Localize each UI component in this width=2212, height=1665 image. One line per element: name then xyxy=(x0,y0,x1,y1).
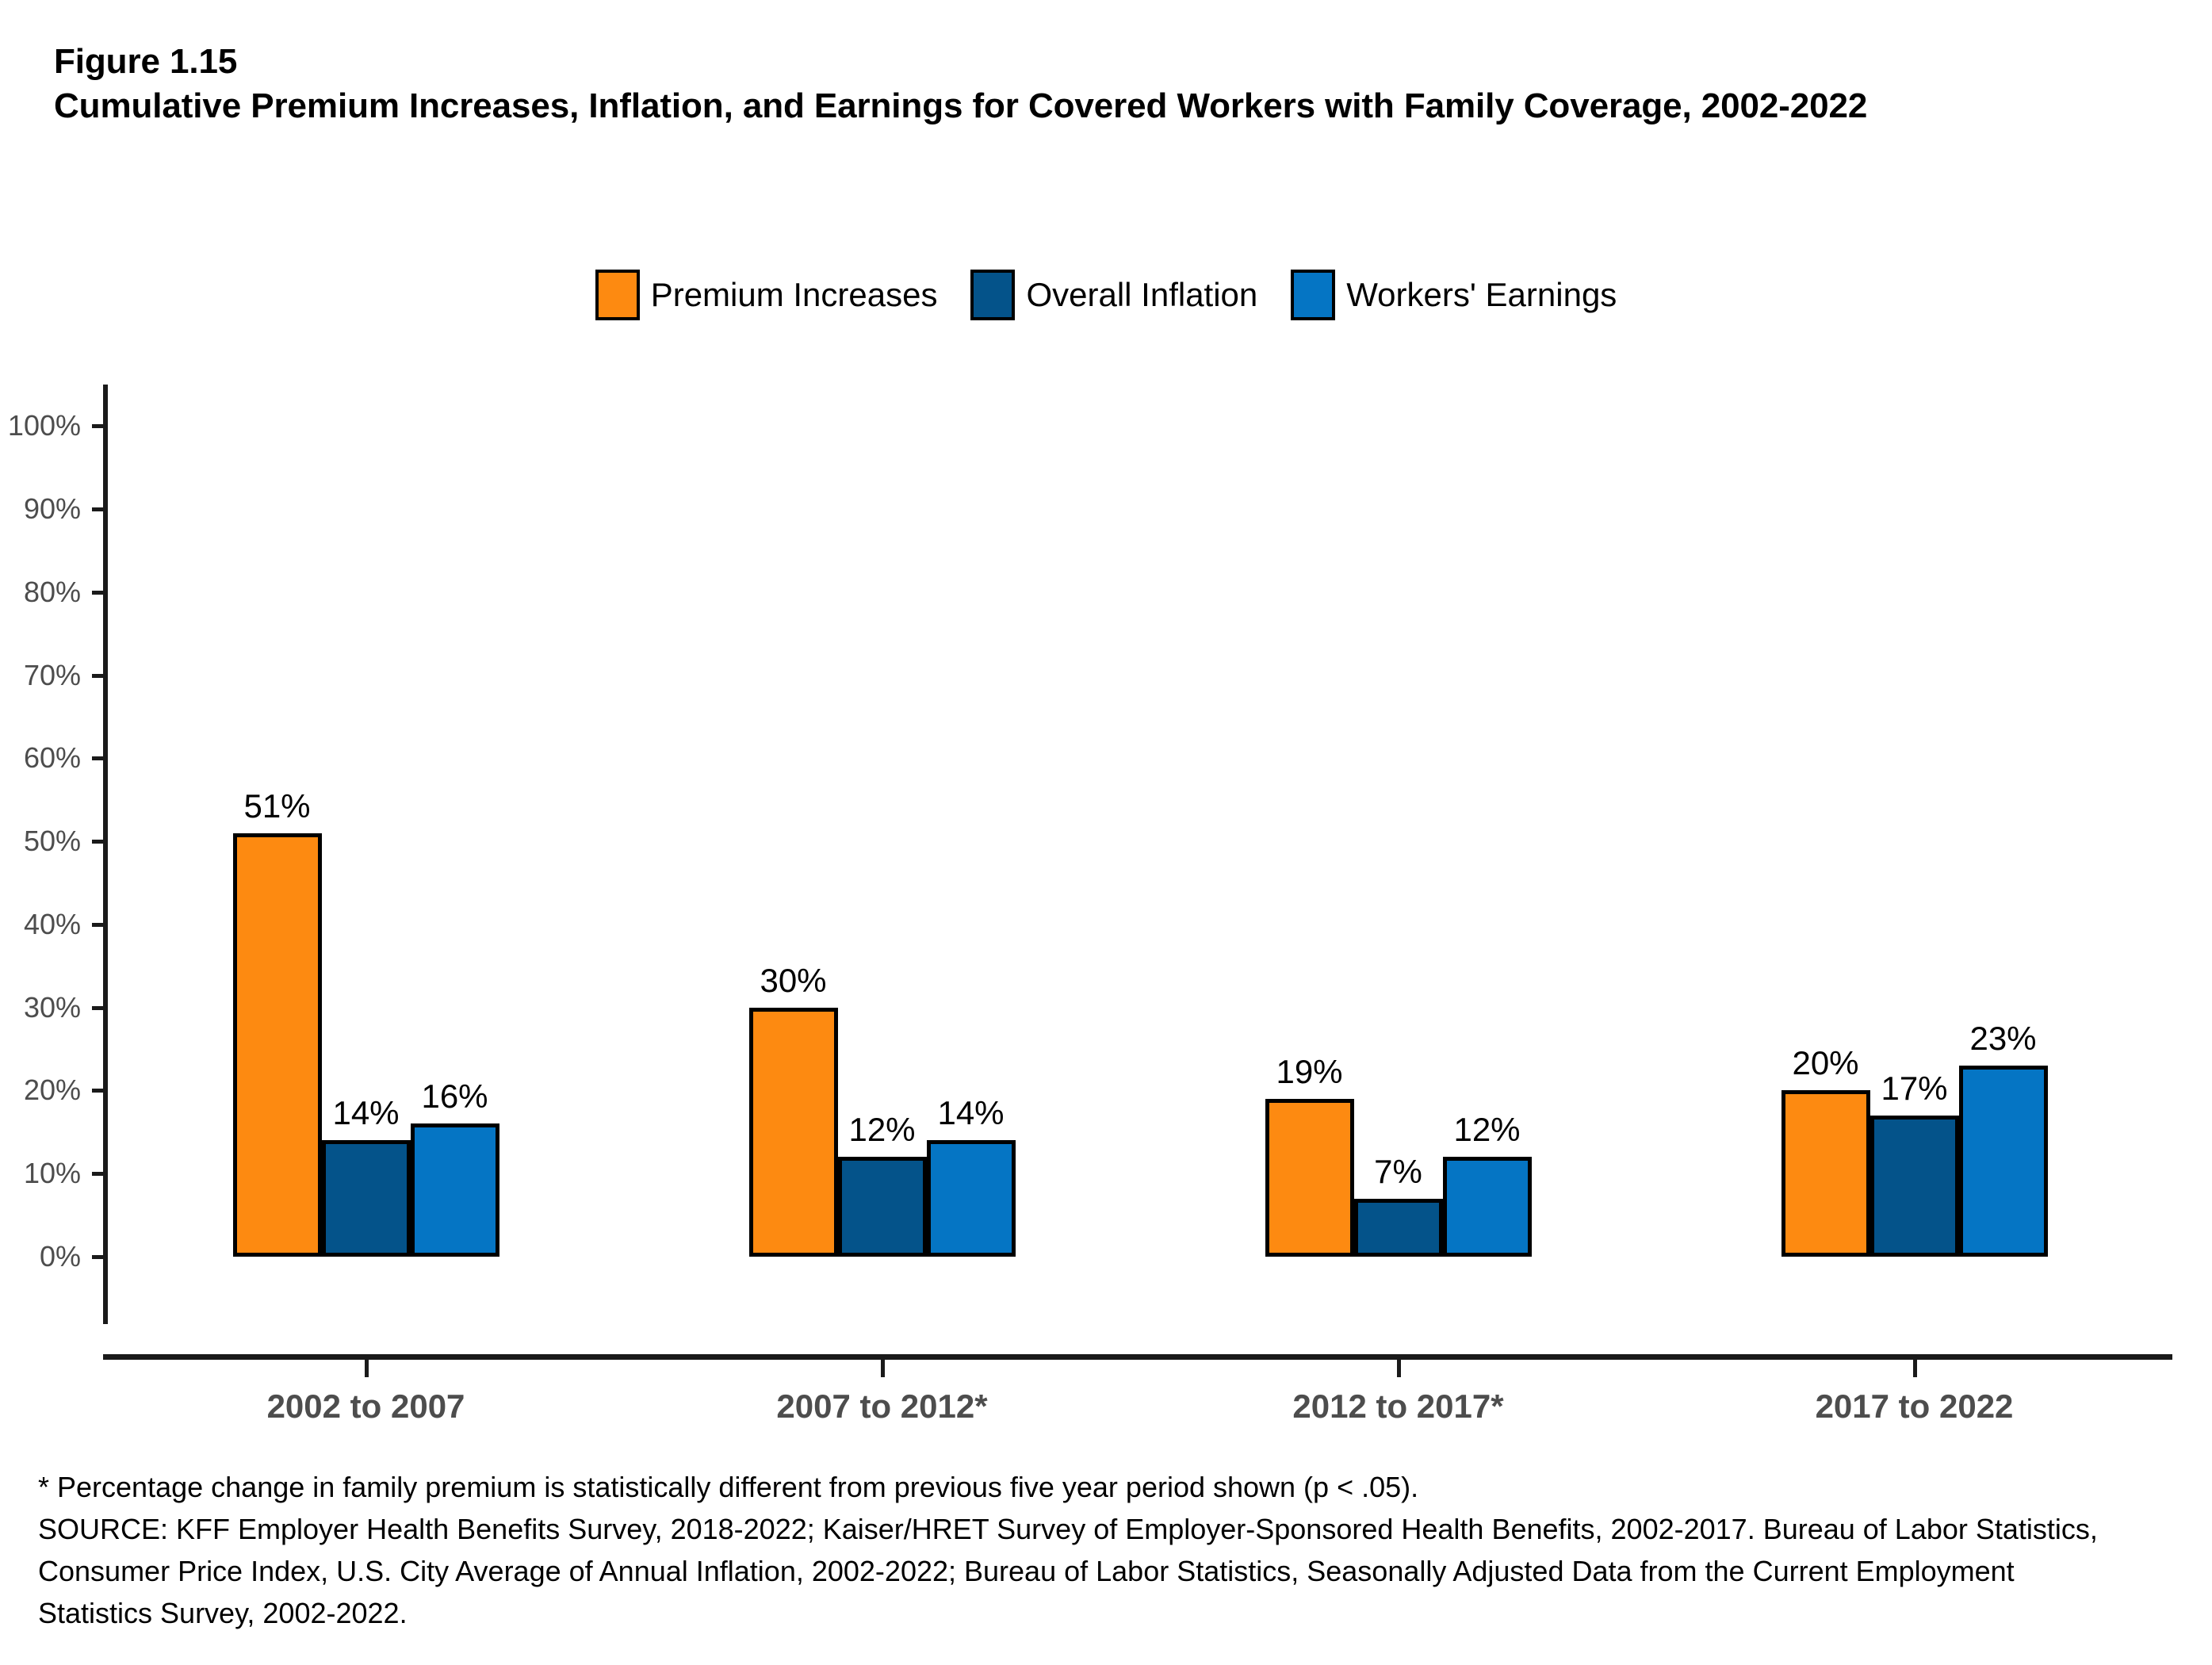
y-axis-tick-label: 70% xyxy=(24,659,81,692)
bar[interactable] xyxy=(1265,1099,1354,1257)
bar[interactable] xyxy=(1354,1199,1443,1257)
x-axis-tick-mark xyxy=(1913,1360,1917,1377)
x-axis-category-label: 2002 to 2007 xyxy=(108,1387,624,1426)
bar-column: 14% xyxy=(927,385,1016,1257)
bar-column: 7% xyxy=(1354,385,1443,1257)
y-axis-tick-label: 100% xyxy=(8,409,81,442)
legend-swatch-icon xyxy=(595,270,640,320)
bar-value-label: 14% xyxy=(937,1094,1004,1132)
chart-legend: Premium IncreasesOverall InflationWorker… xyxy=(0,270,2212,320)
bar[interactable] xyxy=(838,1157,927,1257)
x-axis-category-label: 2012 to 2017* xyxy=(1140,1387,1656,1426)
legend-label: Overall Inflation xyxy=(1026,276,1257,314)
bar-value-label: 51% xyxy=(243,787,310,825)
bar-value-label: 23% xyxy=(1969,1020,2036,1058)
bar-column: 16% xyxy=(411,385,499,1257)
bar[interactable] xyxy=(1781,1090,1870,1257)
figure-title: Cumulative Premium Increases, Inflation,… xyxy=(54,84,2052,128)
legend-item[interactable]: Overall Inflation xyxy=(970,270,1257,320)
x-axis-category-label: 2007 to 2012* xyxy=(624,1387,1140,1426)
legend-swatch-icon xyxy=(1291,270,1335,320)
bar[interactable] xyxy=(233,833,322,1257)
figure-number: Figure 1.15 xyxy=(54,40,2115,84)
bar-groups: 51%14%16%30%12%14%19%7%12%20%17%23% xyxy=(108,385,2172,1257)
footnotes: * Percentage change in family premium is… xyxy=(38,1467,2115,1635)
y-axis-tick-mark xyxy=(92,507,108,511)
bar-group: 19%7%12% xyxy=(1140,385,1656,1257)
legend-swatch-icon xyxy=(970,270,1015,320)
bar-column: 19% xyxy=(1265,385,1354,1257)
y-axis-tick-label: 60% xyxy=(24,741,81,775)
bar-column: 14% xyxy=(322,385,411,1257)
figure-header: Figure 1.15 Cumulative Premium Increases… xyxy=(54,40,2115,129)
bar-value-label: 19% xyxy=(1276,1053,1342,1091)
y-axis-tick-mark xyxy=(92,1006,108,1010)
bar[interactable] xyxy=(1959,1066,2048,1257)
y-axis-tick-label: 20% xyxy=(24,1074,81,1107)
x-axis-tick-mark xyxy=(881,1360,885,1377)
x-axis-category-label: 2017 to 2022 xyxy=(1656,1387,2172,1426)
legend-label: Premium Increases xyxy=(651,276,938,314)
y-axis-tick-label: 0% xyxy=(40,1240,81,1273)
y-axis-tick-label: 30% xyxy=(24,991,81,1024)
bar-column: 51% xyxy=(233,385,322,1257)
bar-value-label: 14% xyxy=(332,1094,399,1132)
legend-label: Workers' Earnings xyxy=(1346,276,1617,314)
legend-item[interactable]: Workers' Earnings xyxy=(1291,270,1617,320)
bar-value-label: 12% xyxy=(1453,1111,1520,1149)
bar-group: 30%12%14% xyxy=(624,385,1140,1257)
x-axis-category-labels: 2002 to 20072007 to 2012*2012 to 2017*20… xyxy=(108,1387,2172,1426)
y-axis-tick-mark xyxy=(92,923,108,927)
x-axis-tick-mark xyxy=(1397,1360,1401,1377)
bar[interactable] xyxy=(322,1140,411,1257)
bar-column: 23% xyxy=(1959,385,2048,1257)
bar-column: 12% xyxy=(838,385,927,1257)
bar-value-label: 12% xyxy=(848,1111,915,1149)
bar-column: 30% xyxy=(749,385,838,1257)
y-axis-tick-mark xyxy=(92,424,108,428)
bar-column: 20% xyxy=(1781,385,1870,1257)
bar[interactable] xyxy=(927,1140,1016,1257)
x-axis-line xyxy=(103,1354,2172,1360)
bar-column: 17% xyxy=(1870,385,1959,1257)
y-axis-tick-mark xyxy=(92,1255,108,1259)
bar-group: 20%17%23% xyxy=(1656,385,2172,1257)
bar-value-label: 30% xyxy=(760,962,826,1000)
y-axis-tick-label: 10% xyxy=(24,1157,81,1190)
bar-value-label: 17% xyxy=(1881,1070,1947,1108)
y-axis-tick-mark xyxy=(92,1089,108,1093)
bar[interactable] xyxy=(1443,1157,1532,1257)
bar[interactable] xyxy=(411,1123,499,1257)
y-axis-tick-mark xyxy=(92,591,108,595)
chart-plot-area: 0%10%20%30%40%50%60%70%80%90%100% 51%14%… xyxy=(103,385,2172,1360)
bar[interactable] xyxy=(1870,1116,1959,1257)
y-axis-tick-mark xyxy=(92,756,108,760)
legend-item[interactable]: Premium Increases xyxy=(595,270,938,320)
bar-value-label: 7% xyxy=(1374,1153,1422,1191)
bar-group: 51%14%16% xyxy=(108,385,624,1257)
y-axis-tick-label: 50% xyxy=(24,825,81,858)
significance-note: * Percentage change in family premium is… xyxy=(38,1467,2115,1509)
y-axis-tick-mark xyxy=(92,840,108,844)
y-axis-tick-label: 40% xyxy=(24,908,81,941)
bar-value-label: 20% xyxy=(1792,1044,1858,1082)
source-note: SOURCE: KFF Employer Health Benefits Sur… xyxy=(38,1509,2099,1635)
y-axis-tick-mark xyxy=(92,1172,108,1176)
bar[interactable] xyxy=(749,1008,838,1257)
y-axis-tick-label: 90% xyxy=(24,492,81,526)
y-axis-tick-label: 80% xyxy=(24,576,81,609)
x-axis-tick-mark xyxy=(365,1360,369,1377)
bar-column: 12% xyxy=(1443,385,1532,1257)
y-axis-tick-mark xyxy=(92,674,108,678)
bar-value-label: 16% xyxy=(421,1077,488,1116)
